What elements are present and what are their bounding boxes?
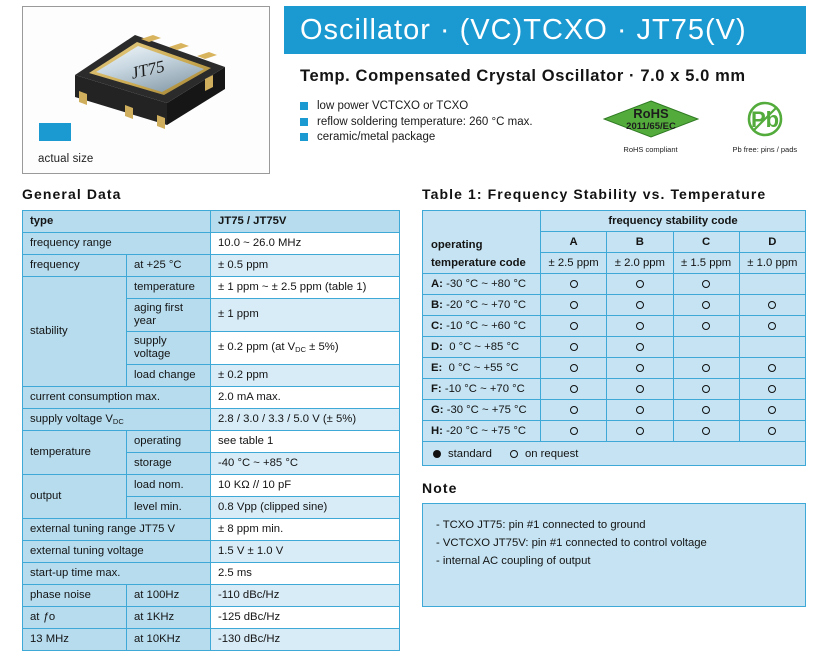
rohs-icon: RoHS 2011/65/EC [603, 100, 699, 138]
stability-tolerance-header: ± 2.0 ppm [607, 253, 673, 274]
open-circle-icon [768, 364, 776, 372]
header-text-column: Oscillator · (VC)TCXO · JT75(V) Temp. Co… [284, 6, 806, 186]
row-value: -40 °C ~ +85 °C [211, 452, 400, 474]
row-label: at ƒo [23, 606, 127, 628]
availability-cell [541, 358, 607, 379]
availability-cell [541, 316, 607, 337]
row-value: ± 1 ppm ~ ± 2.5 ppm (table 1) [211, 277, 400, 299]
list-item: ceramic/metal package [300, 131, 533, 143]
table-row: external tuning range JT75 V± 8 ppm min. [23, 518, 400, 540]
availability-cell [607, 358, 673, 379]
row-value: ± 1 ppm [211, 299, 400, 332]
open-circle-icon [636, 301, 644, 309]
temperature-code-label: A: -30 °C ~ +80 °C [423, 274, 541, 295]
filled-circle-icon [433, 450, 441, 458]
feature-label: reflow soldering temperature: 260 °C max… [317, 116, 533, 128]
row-sublabel: storage [127, 452, 211, 474]
temperature-code-label: G: -30 °C ~ +75 °C [423, 400, 541, 421]
stability-code-header: D [739, 232, 805, 253]
stability-code-header: C [673, 232, 739, 253]
main-content: General Data typeJT75 / JT75Vfrequency r… [0, 186, 820, 651]
table-row: frequencyat +25 °C± 0.5 ppm [23, 255, 400, 277]
availability-cell [607, 400, 673, 421]
list-item: reflow soldering temperature: 260 °C max… [300, 116, 533, 128]
general-data-column: General Data typeJT75 / JT75Vfrequency r… [22, 186, 400, 651]
row-label: frequency range [23, 233, 211, 255]
page-subtitle: Temp. Compensated Crystal Oscillator · 7… [284, 67, 806, 86]
table-row: F: -10 °C ~ +70 °C [423, 379, 806, 400]
table-row: temperatureoperatingsee table 1 [23, 430, 400, 452]
temperature-code-label: F: -10 °C ~ +70 °C [423, 379, 541, 400]
bullet-square-icon [300, 102, 308, 110]
legend-standard-label: standard [448, 448, 492, 460]
title-bar: Oscillator · (VC)TCXO · JT75(V) [284, 6, 806, 54]
open-circle-icon [570, 385, 578, 393]
row-sublabel: supply voltage [127, 331, 211, 364]
svg-text:RoHS: RoHS [633, 106, 669, 121]
row-value: 0.8 Vpp (clipped sine) [211, 496, 400, 518]
row-label: current consumption max. [23, 386, 211, 408]
open-circle-icon [570, 427, 578, 435]
stability-tolerance-header: ± 1.5 ppm [673, 253, 739, 274]
availability-cell [541, 421, 607, 442]
table-row: standardon request [423, 442, 806, 466]
note-line: - internal AC coupling of output [436, 555, 805, 567]
row-value: 2.8 / 3.0 / 3.3 / 5.0 V (± 5%) [211, 408, 400, 430]
availability-cell [739, 400, 805, 421]
open-circle-icon [768, 406, 776, 414]
table-row: typeJT75 / JT75V [23, 211, 400, 233]
row-sublabel: load nom. [127, 474, 211, 496]
open-circle-icon [636, 322, 644, 330]
legend-on-request-label: on request [525, 448, 578, 460]
pb-free-logo-cell: Pb Pb free: pins / pads [733, 100, 798, 154]
row-value: ± 0.2 ppm [211, 364, 400, 386]
stability-code-header: B [607, 232, 673, 253]
availability-cell [673, 400, 739, 421]
open-circle-icon [570, 406, 578, 414]
table-row: G: -30 °C ~ +75 °C [423, 400, 806, 421]
open-circle-icon [702, 301, 710, 309]
open-circle-icon [636, 280, 644, 288]
availability-cell [739, 421, 805, 442]
open-circle-icon [702, 406, 710, 414]
open-circle-icon [636, 385, 644, 393]
table-row: stabilitytemperature± 1 ppm ~ ± 2.5 ppm … [23, 277, 400, 299]
open-circle-icon [636, 364, 644, 372]
feature-label: ceramic/metal package [317, 131, 435, 143]
temperature-code-label: E: 0 °C ~ +55 °C [423, 358, 541, 379]
row-label: type [23, 211, 211, 233]
rohs-caption: RoHS compliant [603, 145, 699, 154]
table1-corner-header: operatingtemperature code [423, 211, 541, 274]
table-row: B: -20 °C ~ +70 °C [423, 295, 806, 316]
row-label: output [23, 474, 127, 518]
open-circle-icon [636, 343, 644, 351]
table-row: E: 0 °C ~ +55 °C [423, 358, 806, 379]
product-photo-panel: JT75 actual size [22, 6, 270, 174]
temperature-code-label: B: -20 °C ~ +70 °C [423, 295, 541, 316]
bullet-square-icon [300, 118, 308, 126]
table-row: C: -10 °C ~ +60 °C [423, 316, 806, 337]
row-sublabel: temperature [127, 277, 211, 299]
availability-cell [739, 379, 805, 400]
temperature-code-label: C: -10 °C ~ +60 °C [423, 316, 541, 337]
table-row: start-up time max.2.5 ms [23, 562, 400, 584]
actual-size-swatch [39, 123, 71, 141]
table-row: A: -30 °C ~ +80 °C [423, 274, 806, 295]
open-circle-icon [702, 427, 710, 435]
table-row: H: -20 °C ~ +75 °C [423, 421, 806, 442]
row-value: 10 KΩ // 10 pF [211, 474, 400, 496]
open-circle-icon [768, 385, 776, 393]
row-sublabel: level min. [127, 496, 211, 518]
row-sublabel: load change [127, 364, 211, 386]
availability-cell [739, 295, 805, 316]
availability-cell [739, 316, 805, 337]
table1-heading: Table 1: Frequency Stability vs. Tempera… [422, 186, 806, 202]
temperature-code-label: H: -20 °C ~ +75 °C [423, 421, 541, 442]
row-value: 2.0 mA max. [211, 386, 400, 408]
availability-cell [607, 421, 673, 442]
note-line: - TCXO JT75: pin #1 connected to ground [436, 519, 805, 531]
availability-cell [541, 274, 607, 295]
availability-cell [607, 295, 673, 316]
row-value: -125 dBc/Hz [211, 606, 400, 628]
row-label: temperature [23, 430, 127, 474]
table-row: outputload nom.10 KΩ // 10 pF [23, 474, 400, 496]
stability-code-header: A [541, 232, 607, 253]
row-value: ± 8 ppm min. [211, 518, 400, 540]
open-circle-icon [702, 385, 710, 393]
frequency-stability-table: operatingtemperature codefrequency stabi… [422, 210, 806, 466]
open-circle-icon [702, 364, 710, 372]
open-circle-icon [768, 301, 776, 309]
note-heading: Note [422, 480, 806, 496]
availability-cell [673, 316, 739, 337]
open-circle-icon [570, 322, 578, 330]
availability-cell [673, 379, 739, 400]
note-box: - TCXO JT75: pin #1 connected to ground … [422, 503, 806, 607]
row-label: phase noise [23, 584, 127, 606]
row-sublabel: at 10KHz [127, 628, 211, 650]
row-value: -110 dBc/Hz [211, 584, 400, 606]
page-title: Oscillator · (VC)TCXO · JT75(V) [300, 14, 747, 47]
availability-cell [607, 379, 673, 400]
availability-cell [739, 274, 805, 295]
temperature-code-label: D: 0 °C ~ +85 °C [423, 337, 541, 358]
availability-cell [673, 274, 739, 295]
frequency-stability-code-header: frequency stability code [541, 211, 806, 232]
availability-cell [673, 295, 739, 316]
pb-free-icon: Pb [741, 100, 789, 138]
table-row: phase noiseat 100Hz-110 dBc/Hz [23, 584, 400, 606]
open-circle-icon [702, 280, 710, 288]
row-sublabel: at +25 °C [127, 255, 211, 277]
row-value: 1.5 V ± 1.0 V [211, 540, 400, 562]
row-label: start-up time max. [23, 562, 211, 584]
row-label: supply voltage VDC [23, 408, 211, 430]
availability-cell [673, 421, 739, 442]
feature-list: low power VCTCXO or TCXO reflow solderin… [284, 100, 533, 147]
svg-text:2011/65/EC: 2011/65/EC [626, 121, 676, 132]
open-circle-icon [570, 301, 578, 309]
open-circle-icon [570, 343, 578, 351]
row-value: 10.0 ~ 26.0 MHz [211, 233, 400, 255]
table-row: supply voltage VDC2.8 / 3.0 / 3.3 / 5.0 … [23, 408, 400, 430]
row-sublabel: aging first year [127, 299, 211, 332]
row-value: JT75 / JT75V [211, 211, 400, 233]
open-circle-icon [702, 322, 710, 330]
availability-cell [607, 274, 673, 295]
availability-cell [673, 358, 739, 379]
availability-cell [541, 337, 607, 358]
features-and-logos-row: low power VCTCXO or TCXO reflow solderin… [284, 100, 806, 154]
bullet-square-icon [300, 133, 308, 141]
table-row: 13 MHzat 10KHz-130 dBc/Hz [23, 628, 400, 650]
note-line: - VCTCXO JT75V: pin #1 connected to cont… [436, 537, 805, 549]
list-item: low power VCTCXO or TCXO [300, 100, 533, 112]
availability-cell [739, 337, 805, 358]
open-circle-icon [636, 427, 644, 435]
rohs-logo-cell: RoHS 2011/65/EC RoHS compliant [603, 100, 699, 154]
open-circle-icon [510, 450, 518, 458]
pb-free-caption: Pb free: pins / pads [733, 145, 798, 154]
open-circle-icon [636, 406, 644, 414]
general-data-heading: General Data [22, 186, 400, 202]
table-row: frequency range10.0 ~ 26.0 MHz [23, 233, 400, 255]
table-row: operatingtemperature codefrequency stabi… [423, 211, 806, 232]
table-row: external tuning voltage1.5 V ± 1.0 V [23, 540, 400, 562]
row-label: external tuning range JT75 V [23, 518, 211, 540]
row-value: ± 0.5 ppm [211, 255, 400, 277]
table-row: at ƒoat 1KHz-125 dBc/Hz [23, 606, 400, 628]
table-row: D: 0 °C ~ +85 °C [423, 337, 806, 358]
oscillator-package-image: JT75 [49, 13, 249, 133]
row-sublabel: operating [127, 430, 211, 452]
compliance-logos: RoHS 2011/65/EC RoHS compliant Pb Pb fre… [603, 100, 798, 154]
row-label: 13 MHz [23, 628, 127, 650]
open-circle-icon [570, 364, 578, 372]
availability-cell [541, 295, 607, 316]
stability-tolerance-header: ± 2.5 ppm [541, 253, 607, 274]
table-row: current consumption max.2.0 mA max. [23, 386, 400, 408]
row-sublabel: at 100Hz [127, 584, 211, 606]
row-value: see table 1 [211, 430, 400, 452]
availability-cell [673, 337, 739, 358]
row-sublabel: at 1KHz [127, 606, 211, 628]
feature-label: low power VCTCXO or TCXO [317, 100, 468, 112]
row-label: stability [23, 277, 127, 387]
open-circle-icon [768, 427, 776, 435]
row-value: ± 0.2 ppm (at VDC ± 5%) [211, 331, 400, 364]
header-section: JT75 actual size Oscillator · (VC)TCXO ·… [0, 0, 820, 186]
row-label: frequency [23, 255, 127, 277]
availability-cell [541, 400, 607, 421]
actual-size-label: actual size [38, 153, 93, 165]
open-circle-icon [768, 322, 776, 330]
general-data-table: typeJT75 / JT75Vfrequency range10.0 ~ 26… [22, 210, 400, 651]
availability-cell [541, 379, 607, 400]
availability-cell [607, 337, 673, 358]
table1-legend: standardon request [423, 442, 806, 466]
row-value: 2.5 ms [211, 562, 400, 584]
row-value: -130 dBc/Hz [211, 628, 400, 650]
stability-tolerance-header: ± 1.0 ppm [739, 253, 805, 274]
table1-column: Table 1: Frequency Stability vs. Tempera… [422, 186, 806, 651]
open-circle-icon [570, 280, 578, 288]
availability-cell [607, 316, 673, 337]
availability-cell [739, 358, 805, 379]
row-label: external tuning voltage [23, 540, 211, 562]
